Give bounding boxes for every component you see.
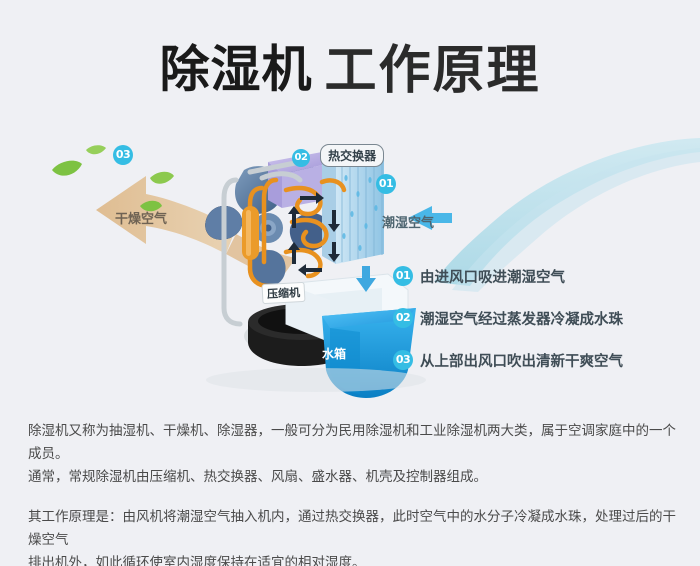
step-text-03: 从上部出风口吹出清新干爽空气 — [420, 350, 623, 371]
description-copy: 除湿机又称为抽湿机、干燥机、除湿器，一般可分为民用除湿机和工业除湿机两大类，属于… — [28, 420, 678, 566]
paragraph-1-line-2: 通常，常规除湿机由压缩机、热交换器、风扇、盛水器、机壳及控制器组成。 — [28, 466, 678, 489]
list-item: 03 从上部出风口吹出清新干爽空气 — [393, 339, 693, 381]
paragraph-2-line-2: 排出机外，如此循环使室内湿度保持在适宜的相对湿度。 — [28, 552, 678, 566]
step-badge-03: 03 — [393, 350, 413, 370]
title-part-2: 工作原理 — [324, 41, 540, 101]
heat-exchanger-callout-text: 热交换器 — [320, 144, 384, 167]
badge-02: 02 — [292, 149, 310, 167]
badge-03-dry-air: 03 — [113, 145, 133, 165]
paragraph-1: 除湿机又称为抽湿机、干燥机、除湿器，一般可分为民用除湿机和工业除湿机两大类，属于… — [28, 420, 678, 489]
paragraph-2: 其工作原理是：由风机将潮湿空气抽入机内，通过热交换器，此时空气中的水分子冷凝成水… — [28, 506, 678, 566]
list-item: 01 由进风口吸进潮湿空气 — [393, 255, 693, 297]
step-badge-02: 02 — [393, 308, 413, 328]
infographic-page: 除湿机工作原理 — [0, 0, 700, 566]
badge-01-humid-air: 01 — [376, 174, 396, 194]
step-text-02: 潮湿空气经过蒸发器冷凝成水珠 — [420, 308, 623, 329]
heat-exchanger-label: 02 热交换器 — [292, 144, 384, 167]
paragraph-1-line-1: 除湿机又称为抽湿机、干燥机、除湿器，一般可分为民用除湿机和工业除湿机两大类，属于… — [28, 420, 678, 466]
humid-air-label: 潮湿空气 — [382, 212, 434, 231]
paragraph-2-line-1: 其工作原理是：由风机将潮湿空气抽入机内，通过热交换器，此时空气中的水分子冷凝成水… — [28, 506, 678, 552]
compressor-label: 压缩机 — [262, 282, 306, 304]
page-title: 除湿机工作原理 — [0, 28, 700, 103]
title-part-1: 除湿机 — [159, 41, 312, 99]
steps-list: 01 由进风口吸进潮湿空气 02 潮湿空气经过蒸发器冷凝成水珠 03 从上部出风… — [393, 255, 693, 381]
water-tank-label: 水箱 — [322, 345, 346, 362]
step-badge-01: 01 — [393, 266, 413, 286]
dry-air-label: 干燥空气 — [115, 208, 167, 227]
list-item: 02 潮湿空气经过蒸发器冷凝成水珠 — [393, 297, 693, 339]
accumulator-icon — [242, 206, 259, 260]
step-text-01: 由进风口吸进潮湿空气 — [420, 266, 565, 287]
